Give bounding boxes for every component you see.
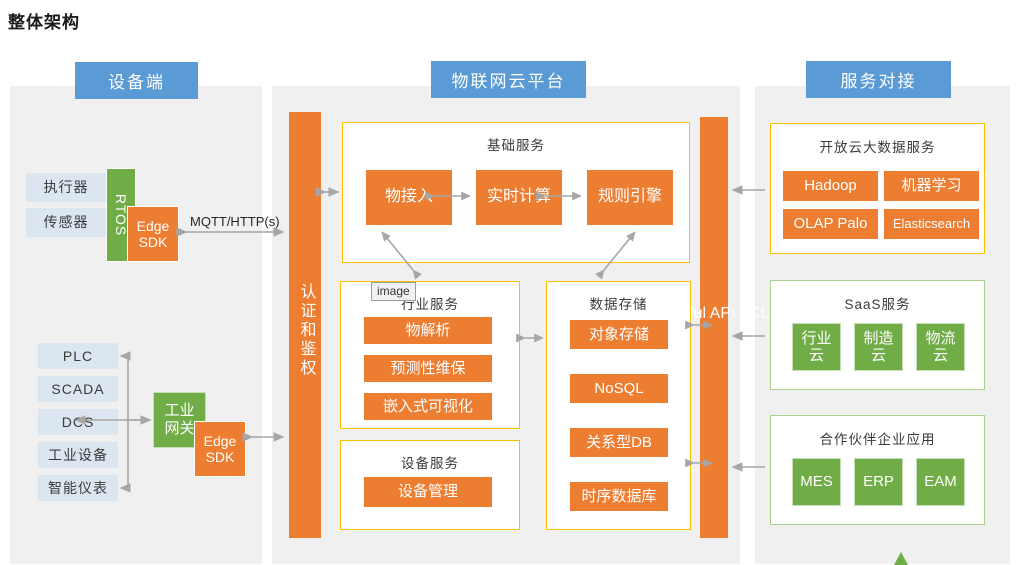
- card-device-service-title: 设备服务: [341, 452, 519, 472]
- partner-item-erp[interactable]: ERP: [854, 458, 903, 506]
- device-item-smart-meter[interactable]: 智能仪表: [38, 475, 118, 501]
- saas-item-manufacturing-cloud[interactable]: 制造 云: [854, 323, 903, 371]
- protocol-label: MQTT/HTTP(s): [190, 214, 280, 229]
- card-data-storage-title: 数据存储: [547, 293, 690, 313]
- card-bigdata-service: 开放云大数据服务 Hadoop 机器学习 OLAP Palo Elasticse…: [770, 123, 985, 254]
- bigdata-item-machine-learning[interactable]: 机器学习: [883, 170, 980, 202]
- auth-bar-label-text: 认证和鉴权: [296, 283, 315, 378]
- saas-item-logistics-cloud[interactable]: 物流 云: [916, 323, 965, 371]
- section-chip-cloud[interactable]: 物联网云平台: [431, 61, 586, 98]
- industrial-gateway-label: 工业 网关: [163, 402, 197, 438]
- edge-sdk-label-bottom: Edge SDK: [204, 433, 237, 465]
- section-chip-service[interactable]: 服务对接: [806, 61, 951, 98]
- device-item-dcs[interactable]: DCS: [38, 409, 118, 435]
- page-title: 整体架构: [8, 8, 80, 33]
- card-basic-service: 基础服务 物接入 实时计算 规则引擎: [342, 122, 690, 263]
- image-tooltip: image: [371, 282, 416, 301]
- card-partner-apps-title: 合作伙伴企业应用: [771, 428, 984, 448]
- card-saas-service: SaaS服务 行业 云 制造 云 物流 云: [770, 280, 985, 390]
- card-industry-service-title: 行业服务: [341, 293, 519, 313]
- device-service-item-device-management[interactable]: 设备管理: [363, 476, 493, 508]
- edge-sdk-box-bottom[interactable]: Edge SDK: [194, 421, 246, 477]
- card-basic-service-title: 基础服务: [343, 134, 689, 154]
- partner-item-eam[interactable]: EAM: [916, 458, 965, 506]
- section-chip-device[interactable]: 设备端: [75, 62, 198, 99]
- data-storage-item-object-storage[interactable]: 对象存储: [569, 319, 669, 350]
- device-item-sensor[interactable]: 传感器: [26, 208, 106, 237]
- basic-service-item-rule-engine[interactable]: 规则引擎: [586, 169, 674, 226]
- card-industry-service: 行业服务 物解析 预测性维保 嵌入式可视化: [340, 281, 520, 429]
- data-storage-item-timeseries-db[interactable]: 时序数据库: [569, 481, 669, 512]
- edge-sdk-label-top: Edge SDK: [137, 218, 170, 250]
- device-item-actuator[interactable]: 执行器: [26, 173, 106, 202]
- saas-item-industry-cloud-label: 行业 云: [801, 330, 831, 365]
- card-bigdata-service-title: 开放云大数据服务: [771, 136, 984, 156]
- industry-service-item-embedded-visualization[interactable]: 嵌入式可视化: [363, 392, 493, 421]
- saas-item-logistics-cloud-label: 物流 云: [925, 330, 955, 365]
- diagram-canvas: 整体架构 设备端 物联网云平台 服务对接 执行器 传感器 RTOS Edge S…: [0, 0, 1018, 565]
- card-data-storage: 数据存储 对象存储 NoSQL 关系型DB 时序数据库: [546, 281, 691, 530]
- data-storage-item-relational-db[interactable]: 关系型DB: [569, 427, 669, 458]
- card-partner-apps: 合作伙伴企业应用 MES ERP EAM: [770, 415, 985, 525]
- card-device-service: 设备服务 设备管理: [340, 440, 520, 530]
- industry-service-item-thing-parsing[interactable]: 物解析: [363, 316, 493, 345]
- card-saas-service-title: SaaS服务: [771, 293, 984, 313]
- device-item-plc[interactable]: PLC: [38, 343, 118, 369]
- device-item-scada[interactable]: SCADA: [38, 376, 118, 402]
- auth-bar-label: 认证和鉴权: [289, 270, 321, 390]
- partner-item-mes[interactable]: MES: [792, 458, 841, 506]
- industry-service-item-predictive-maintenance[interactable]: 预测性维保: [363, 354, 493, 383]
- edge-sdk-box-top[interactable]: Edge SDK: [127, 206, 179, 262]
- basic-service-item-realtime-compute[interactable]: 实时计算: [475, 169, 563, 226]
- saas-item-industry-cloud[interactable]: 行业 云: [792, 323, 841, 371]
- saas-item-manufacturing-cloud-label: 制造 云: [863, 330, 893, 365]
- bigdata-item-elasticsearch[interactable]: Elasticsearch: [883, 208, 980, 240]
- bigdata-item-hadoop[interactable]: Hadoop: [782, 170, 879, 202]
- basic-service-item-thing-access[interactable]: 物接入: [365, 169, 453, 226]
- device-item-industrial-equipment[interactable]: 工业设备: [38, 442, 118, 468]
- bigdata-item-olap-palo[interactable]: OLAP Palo: [782, 208, 879, 240]
- data-storage-item-nosql[interactable]: NoSQL: [569, 373, 669, 404]
